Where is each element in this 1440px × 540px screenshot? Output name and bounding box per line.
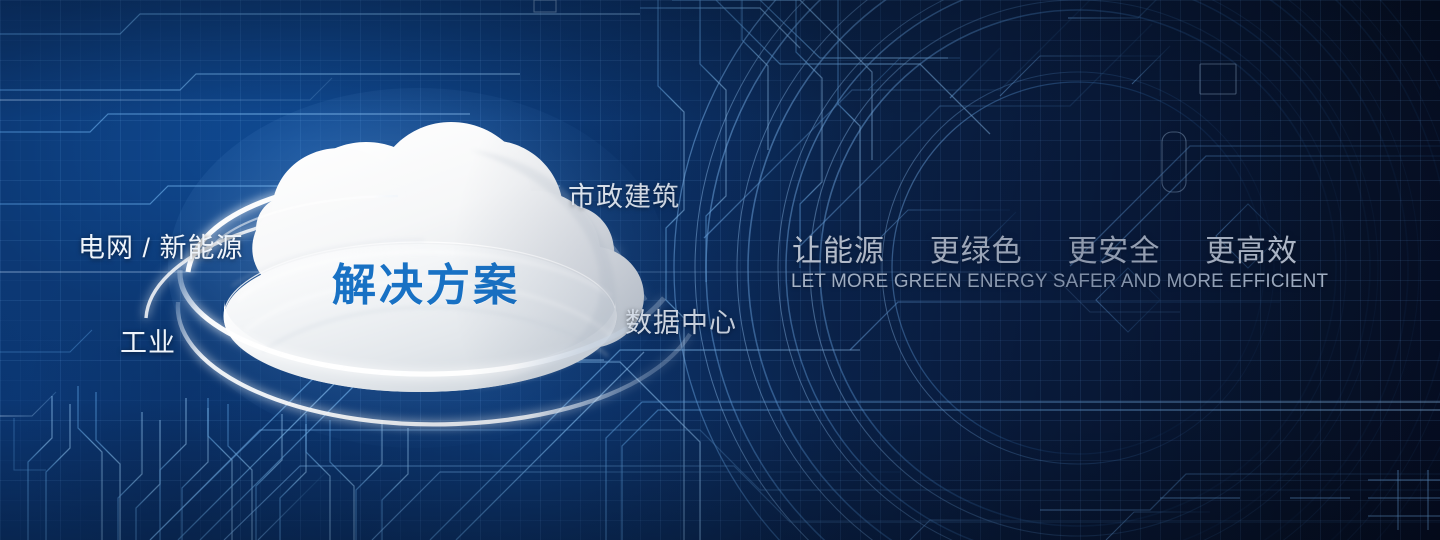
node-label-industry: 工业 [120,321,176,360]
solution-hero-banner: 解决方案 电网 / 新能源 工业 市政建筑 数据中心 让能源 更绿色 更安全 更… [0,0,1440,540]
slogan-part-2: 更绿色 [930,226,1023,270]
node-label-municipal: 市政建筑 [568,175,680,214]
slogan-part-1: 让能源 [792,226,885,270]
node-label-data-center: 数据中心 [625,301,737,340]
slogan-part-3: 更安全 [1067,226,1160,270]
slogan-part-4: 更高效 [1205,226,1298,270]
slogan-english: LET MORE GREEN ENERGY SAFER AND MORE EFF… [791,270,1328,293]
page-title: 解决方案 [332,249,520,313]
slogan-chinese: 让能源 更绿色 更安全 更高效 [792,226,1298,270]
node-label-grid-energy: 电网 / 新能源 [78,226,244,265]
